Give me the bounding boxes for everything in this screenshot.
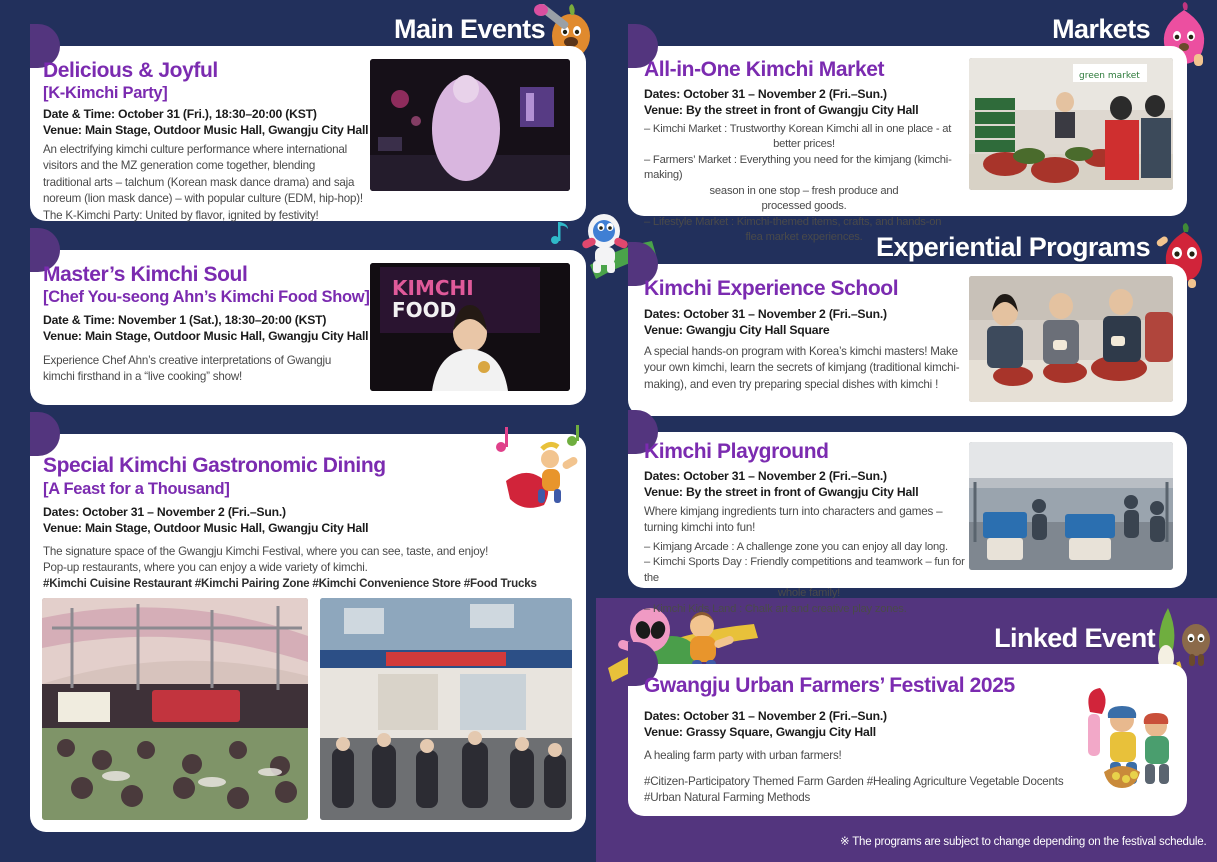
section-header-linked-event: Linked Event xyxy=(940,615,1155,661)
card-bullets-playground: – Kimjang Arcade : A challenge zone you … xyxy=(644,540,974,617)
svg-text:FOOD: FOOD xyxy=(392,298,456,322)
card-venue-urban-farmers: Venue: Grassy Square, Gwangju City Hall xyxy=(644,724,876,742)
music-notes-decoration-2 xyxy=(492,425,588,511)
music-notes-decoration xyxy=(548,218,578,248)
card-description-delicious-joyful: An electrifying kimchi culture performan… xyxy=(43,142,365,224)
card-hashtags-line-1: #Citizen-Participatory Themed Farm Garde… xyxy=(644,774,1074,790)
card-venue-experience-school: Venue: Gwangju City Hall Square xyxy=(644,322,829,340)
card-description-line-1: The signature space of the Gwangju Kimch… xyxy=(43,544,563,560)
festival-dining-tent-photo xyxy=(42,598,308,820)
card-venue-masters-kimchi-soul: Venue: Main Stage, Outdoor Music Hall, G… xyxy=(43,328,383,346)
card-description-experience-school: A special hands-on program with Korea’s … xyxy=(644,344,969,393)
card-description-line-2: Pop-up restaurants, where you can enjoy … xyxy=(43,560,563,576)
card-subtitle-feast-for-a-thousand: [A Feast for a Thousand] xyxy=(43,480,230,500)
card-venue-delicious-joyful: Venue: Main Stage, Outdoor Music Hall, G… xyxy=(43,122,383,140)
card-title-all-in-one-market: All-in-One Kimchi Market xyxy=(644,58,884,82)
card-venue-playground: Venue: By the street in front of Gwangju… xyxy=(644,484,918,502)
section-header-markets-label: Markets xyxy=(1052,14,1150,45)
card-title-delicious-joyful: Delicious & Joyful xyxy=(43,59,218,83)
card-description-playground: Where kimjang ingredients turn into char… xyxy=(644,504,944,537)
card-venue-all-in-one-market: Venue: By the street in front of Gwangju… xyxy=(644,102,918,120)
card-kimchi-experience-school: Kimchi Experience School Dates: October … xyxy=(628,264,1187,416)
chef-portrait-photo: KIMCHI FOOD xyxy=(370,263,570,391)
card-description-masters-kimchi-soul: Experience Chef Ahn’s creative interpret… xyxy=(43,353,363,386)
card-description-urban-farmers: A healing farm party with urban farmers! xyxy=(644,748,1044,764)
card-subtitle-k-kimchi-party: [K-Kimchi Party] xyxy=(43,84,167,104)
bullet-kimjang-arcade: – Kimjang Arcade : A challenge zone you … xyxy=(644,540,974,555)
card-notch-top xyxy=(30,412,60,456)
card-kimchi-playground: Kimchi Playground Dates: October 31 – No… xyxy=(628,432,1187,588)
outdoor-playground-tent-photo xyxy=(969,442,1173,570)
bullet-kimchi-kids-land: – Kimchi Kids Land : Chalk art and creat… xyxy=(644,602,974,617)
card-venue-special-kimchi-dining: Venue: Main Stage, Outdoor Music Hall, G… xyxy=(43,520,368,538)
card-title-kimchi-experience-school: Kimchi Experience School xyxy=(644,277,898,301)
bullet-lifestyle-market: – Lifestyle Market : Kimchi-themed items… xyxy=(644,215,964,246)
concert-performer-photo xyxy=(370,59,570,191)
kimchi-making-class-photo xyxy=(969,276,1173,402)
card-delicious-joyful: Delicious & Joyful [K-Kimchi Party] Date… xyxy=(30,46,586,221)
card-hashtags-line-2: #Urban Natural Farming Methods xyxy=(644,790,1074,806)
card-title-masters-kimchi-soul: Master’s Kimchi Soul xyxy=(43,263,247,287)
card-title-urban-farmers-festival: Gwangju Urban Farmers’ Festival 2025 xyxy=(644,674,1015,698)
food-truck-street-photo xyxy=(320,598,572,820)
card-title-kimchi-playground: Kimchi Playground xyxy=(644,440,829,464)
footnote-disclaimer: ※ The programs are subject to change dep… xyxy=(840,834,1206,848)
kimchi-market-stall-photo: green market xyxy=(969,58,1173,190)
bullet-kimchi-market: – Kimchi Market : Trustworthy Korean Kim… xyxy=(644,122,964,153)
section-header-main-events-label: Main Events xyxy=(394,14,545,45)
bullet-kimchi-sports-day: – Kimchi Sports Day : Friendly competiti… xyxy=(644,555,974,601)
card-all-in-one-kimchi-market: All-in-One Kimchi Market Dates: October … xyxy=(628,46,1187,216)
svg-text:KIMCHI: KIMCHI xyxy=(392,276,474,300)
bullet-farmers-market: – Farmers’ Market : Everything you need … xyxy=(644,153,964,215)
card-subtitle-chef-food-show: [Chef You-seong Ahn’s Kimchi Food Show] xyxy=(43,288,370,308)
section-header-linked-event-label: Linked Event xyxy=(994,623,1155,654)
card-title-special-kimchi-dining: Special Kimchi Gastronomic Dining xyxy=(43,454,386,478)
farmer-family-mascot xyxy=(1068,676,1180,796)
card-hashtags-special-kimchi-dining: #Kimchi Cuisine Restaurant #Kimchi Pairi… xyxy=(43,576,573,592)
card-bullets-all-in-one-market: – Kimchi Market : Trustworthy Korean Kim… xyxy=(644,122,964,246)
card-urban-farmers-festival: Gwangju Urban Farmers’ Festival 2025 Dat… xyxy=(628,664,1187,816)
card-masters-kimchi-soul: Master’s Kimchi Soul [Chef You-seong Ahn… xyxy=(30,250,586,405)
svg-text:green market: green market xyxy=(1079,71,1140,81)
